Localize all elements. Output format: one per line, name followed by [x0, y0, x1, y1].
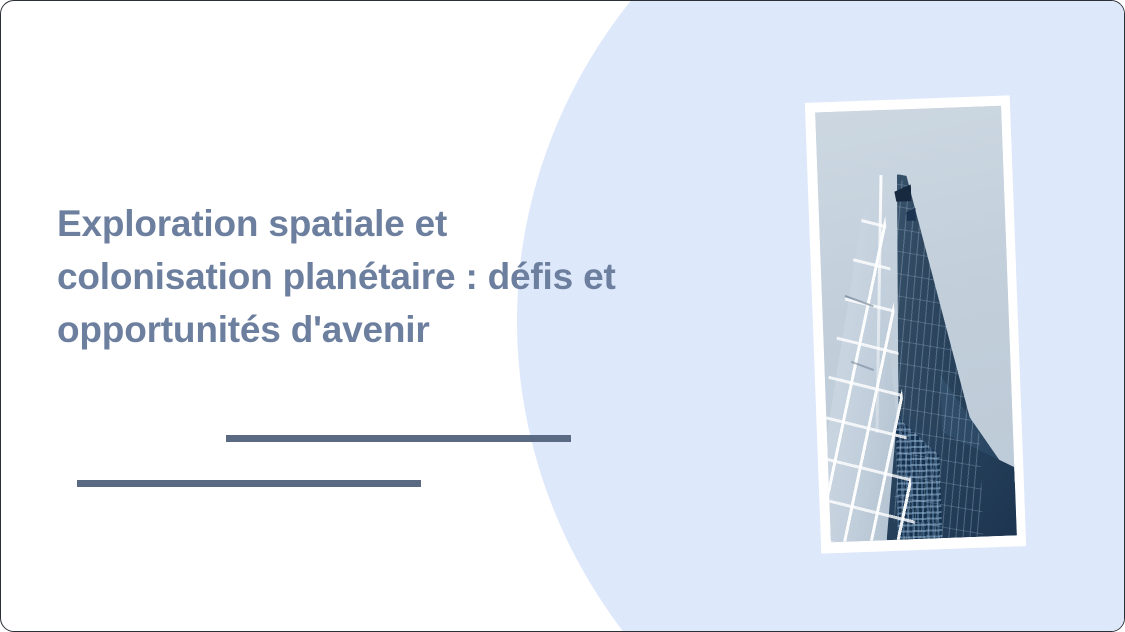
title-underline-upper	[226, 435, 571, 442]
photo-frame	[805, 95, 1026, 553]
page-title: Exploration spatiale et colonisation pla…	[57, 197, 617, 356]
title-block: Exploration spatiale et colonisation pla…	[57, 197, 617, 356]
title-underline-lower	[77, 480, 421, 487]
slide: Exploration spatiale et colonisation pla…	[0, 0, 1125, 632]
skyscraper-photo	[815, 106, 1017, 543]
